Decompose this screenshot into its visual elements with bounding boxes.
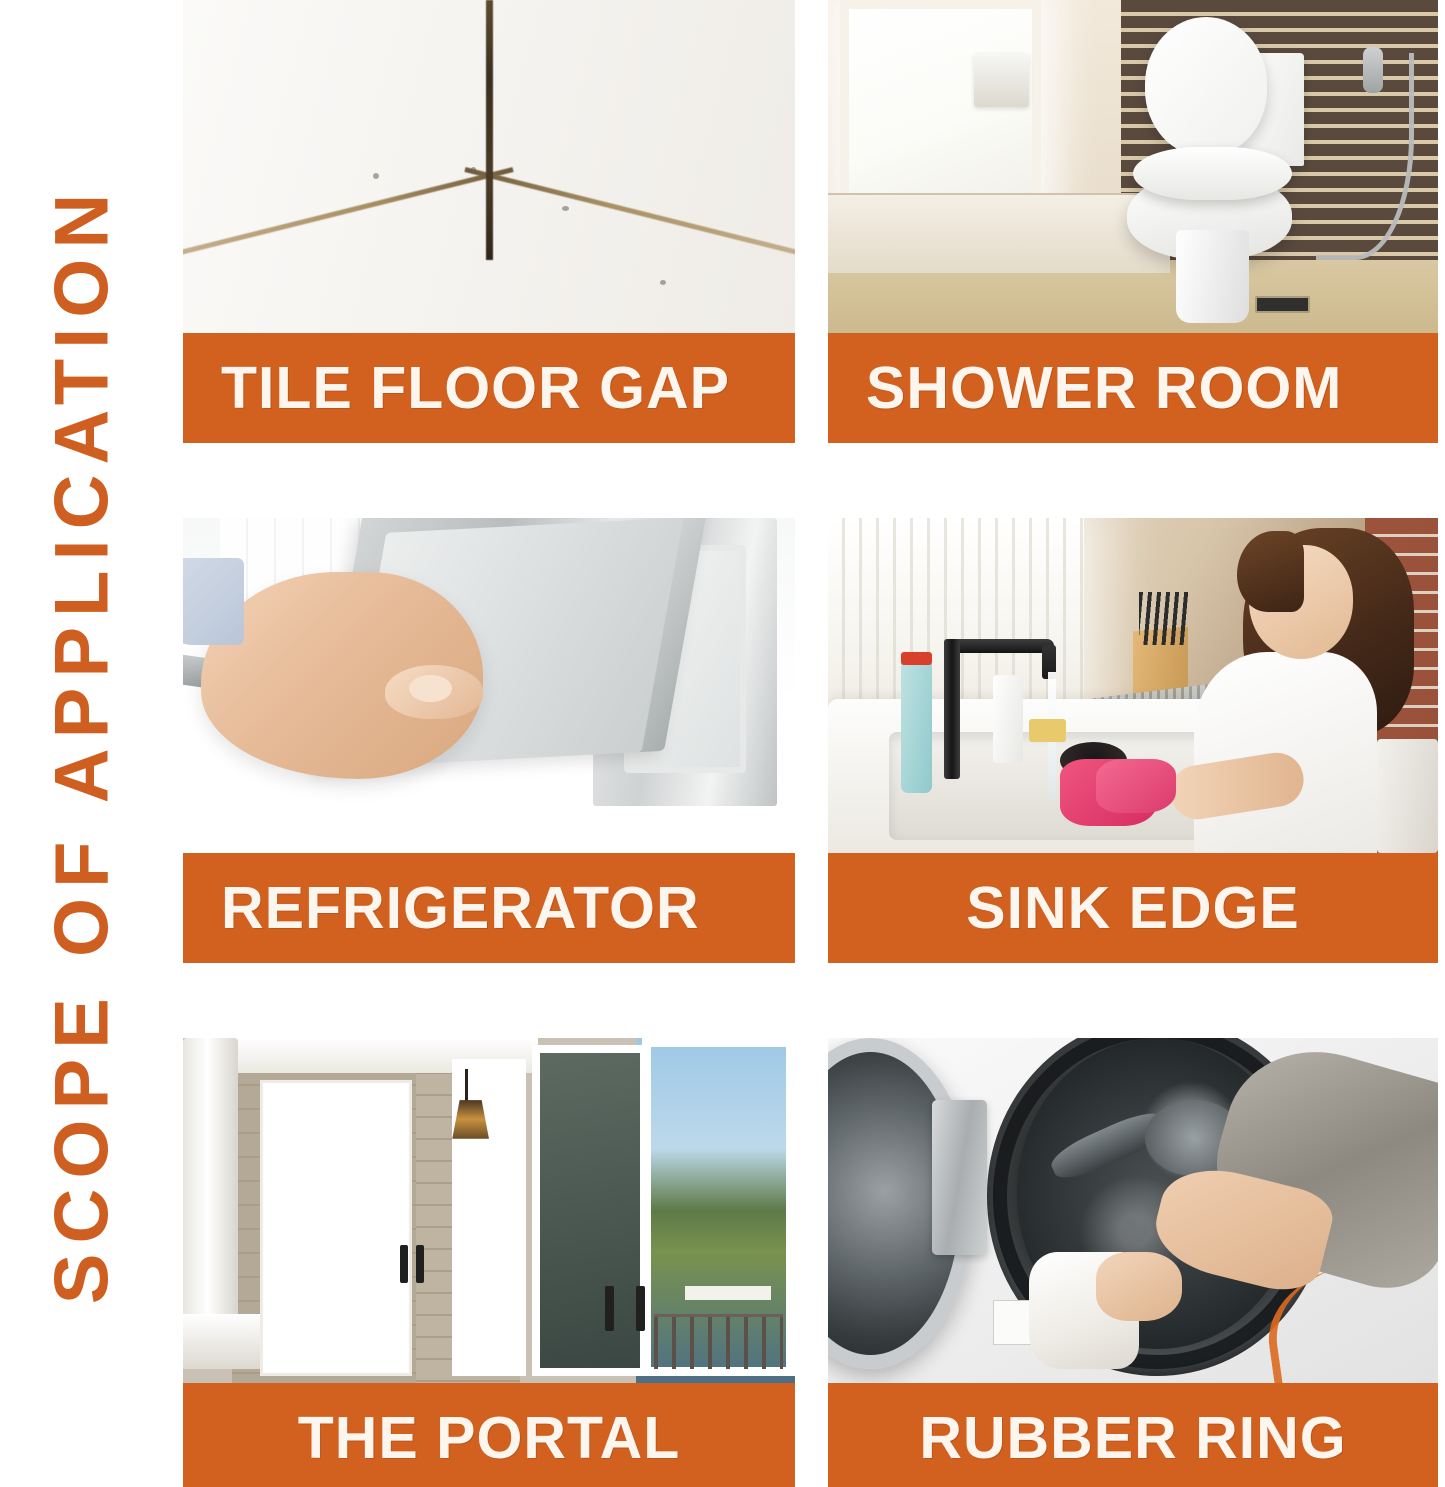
hand-sprayer [1363, 47, 1383, 93]
hand-holding-cloth [1096, 1252, 1181, 1321]
toilet-pedestal [1176, 230, 1249, 323]
toilet-seat [1133, 147, 1292, 200]
scope-of-application-infographic: SCOPE OF APPLICATION TILE FLOOR GAP [0, 0, 1445, 1487]
vertical-headline: SCOPE OF APPLICATION [0, 0, 165, 1487]
cell-sink-edge[interactable]: SINK EDGE [828, 518, 1438, 963]
floor-drain [1255, 296, 1310, 313]
caption-bar-shower-room: SHOWER ROOM [828, 333, 1438, 443]
french-door [263, 1083, 410, 1373]
cell-the-portal[interactable]: THE PORTAL [183, 1038, 795, 1487]
washer-door-hinge [932, 1100, 987, 1255]
cell-refrigerator[interactable]: REFRIGERATOR [183, 518, 795, 963]
spray-bottle-cap [901, 652, 932, 665]
french-door-glass-panes [276, 1096, 397, 1360]
faucet-column [944, 639, 960, 780]
photo-shower-room [828, 0, 1438, 333]
mold-speck [471, 167, 476, 172]
lantern-bracket [465, 1069, 468, 1104]
cell-rubber-ring[interactable]: RUBBER RING [828, 1038, 1438, 1487]
door-handle [400, 1245, 408, 1283]
application-grid: TILE FLOOR GAP [183, 0, 1438, 1487]
slider-handle [636, 1286, 645, 1331]
porch-column [183, 1038, 238, 1328]
sliding-glass-door [532, 1045, 648, 1376]
caption-label: REFRIGERATOR [221, 879, 700, 938]
grout-line-vertical-mold [486, 0, 493, 260]
girl-shirt [1194, 652, 1377, 853]
toilet-lid [1145, 17, 1267, 157]
shirt-sleeve [183, 558, 244, 645]
caption-bar-the-portal: THE PORTAL [183, 1383, 795, 1487]
caption-label: RUBBER RING [919, 1409, 1346, 1468]
caption-bar-sink-edge: SINK EDGE [828, 853, 1438, 963]
photo-tile-floor-gap [183, 0, 795, 333]
toilet-paper-holder [974, 53, 1029, 106]
caption-bar-rubber-ring: RUBBER RING [828, 1383, 1438, 1487]
bathroom-baseboard [828, 193, 1170, 273]
soap-dispenser [993, 675, 1024, 762]
caption-label: SINK EDGE [966, 879, 1300, 938]
caption-label: THE PORTAL [298, 1409, 681, 1468]
photo-the-portal [183, 1038, 795, 1383]
caption-label: TILE FLOOR GAP [221, 359, 730, 418]
kitchen-knives [1139, 592, 1188, 646]
caption-label: SHOWER ROOM [866, 359, 1342, 418]
girl-hair-front [1237, 531, 1304, 611]
caption-bar-tile-floor-gap: TILE FLOOR GAP [183, 333, 795, 443]
photo-refrigerator [183, 518, 795, 853]
cell-shower-room[interactable]: SHOWER ROOM [828, 0, 1438, 443]
slider-handle [605, 1286, 614, 1331]
cell-tile-floor-gap[interactable]: TILE FLOOR GAP [183, 0, 795, 443]
photo-sink-edge [828, 518, 1438, 853]
spray-bottle [901, 659, 932, 793]
sponge [1029, 719, 1066, 742]
vertical-headline-text: SCOPE OF APPLICATION [45, 183, 121, 1304]
caption-bar-refrigerator: REFRIGERATOR [183, 853, 795, 963]
mold-speck [373, 173, 379, 179]
door-handle [416, 1245, 424, 1283]
pergola [685, 1286, 771, 1300]
photo-rubber-ring [828, 1038, 1438, 1383]
deck-railing [654, 1314, 783, 1369]
faucet-arm [944, 639, 1054, 653]
pink-rubber-glove-right [1096, 759, 1175, 813]
stool [1377, 739, 1438, 853]
